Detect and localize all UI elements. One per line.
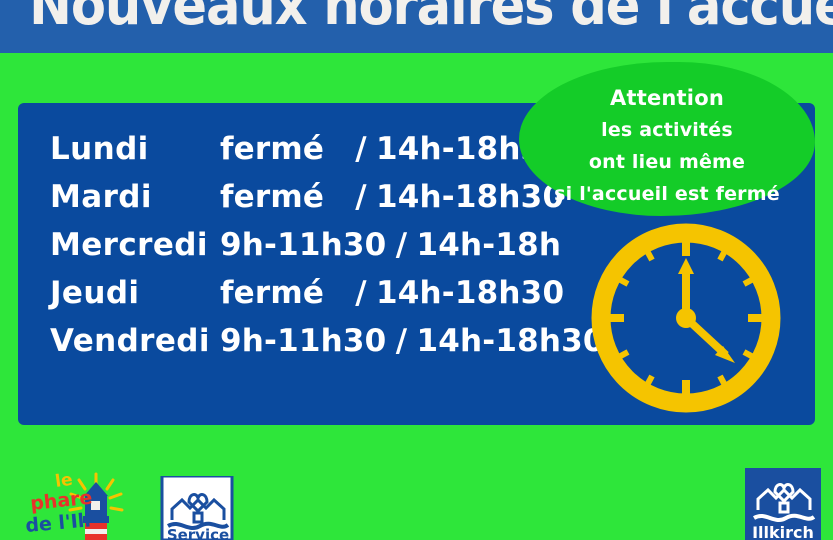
service-houses-icon: Service [158,476,238,540]
hours-separator: / [386,221,416,269]
logo-illkirch: Illkirch [745,468,821,540]
attention-heading: Attention [519,82,815,114]
header-band: Nouveaux horaires de l'accueil [0,0,833,53]
service-label: Service [167,526,229,540]
day-label: Mercredi [50,221,220,269]
hours-morning: 9h-11h30 [220,317,386,365]
attention-line-4: si l'accueil est fermé [519,178,815,210]
logo-service: Service [158,476,238,540]
hours-morning: 9h-11h30 [220,221,386,269]
poster-root: Nouveaux horaires de l'accueil Lundi fer… [0,0,833,540]
hours-separator: / [346,269,376,317]
table-row: Jeudi fermé/14h-18h30 [50,269,605,317]
hours-separator: / [346,173,376,221]
table-row: Mercredi 9h-11h30/14h-18h [50,221,605,269]
table-row: Vendredi 9h-11h30/14h-18h30 [50,317,605,365]
logo-le-phare-de-lill: le phare de l'Ill [26,470,144,540]
attention-line-2: les activités [519,114,815,146]
illkirch-label: Illkirch [752,523,814,540]
hours-value: fermé/14h-18h30 [220,269,605,317]
clock-svg [590,222,782,414]
hours-morning: fermé [220,173,346,221]
attention-line-3: ont lieu même [519,146,815,178]
hours-afternoon: 14h-18h30 [376,269,564,317]
illkirch-crest-icon: Illkirch [745,468,821,540]
day-label: Jeudi [50,269,220,317]
hours-value: 9h-11h30/14h-18h [220,221,605,269]
hours-morning: fermé [220,125,346,173]
hours-separator: / [386,317,416,365]
hours-separator: / [346,125,376,173]
day-label: Mardi [50,173,220,221]
footer-logos: le phare de l'Ill Service [0,460,833,540]
lighthouse-icon: le phare de l'Ill [26,470,144,540]
day-label: Vendredi [50,317,220,365]
attention-bubble: Attention les activités ont lieu même si… [519,62,815,216]
day-label: Lundi [50,125,220,173]
page-title: Nouveaux horaires de l'accueil [29,0,804,36]
hours-afternoon: 14h-18h [416,221,561,269]
hours-value: 9h-11h30/14h-18h30 [220,317,605,365]
phare-line-3: de l'Ill [26,509,92,537]
hours-morning: fermé [220,269,346,317]
hours-afternoon: 14h-18h30 [416,317,604,365]
clock-icon [590,222,782,414]
